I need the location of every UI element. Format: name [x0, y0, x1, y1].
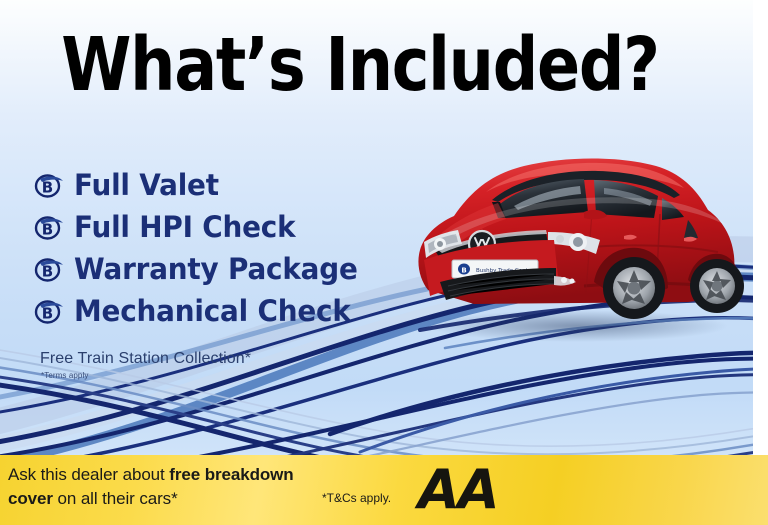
- b-logo-icon: B: [34, 215, 64, 241]
- advert-artwork-panel: What’s Included? B Full Valet B: [0, 0, 753, 525]
- included-features-list: B Full Valet B Full HPI Check: [34, 165, 370, 333]
- list-item: B Mechanical Check: [34, 291, 370, 332]
- feature-label: Warranty Package: [74, 255, 358, 284]
- aa-line1-plain: Ask this dealer about: [8, 465, 169, 484]
- aa-line1-bold: free breakdown: [169, 465, 293, 484]
- feature-label: Mechanical Check: [74, 297, 351, 326]
- collection-note: Free Train Station Collection*: [40, 350, 251, 368]
- feature-label: Full HPI Check: [74, 213, 295, 242]
- car-plate-text: Bushby Trade Centre: [476, 268, 534, 274]
- page-title: What’s Included?: [50, 28, 669, 102]
- terms-note: *Terms apply: [41, 371, 88, 380]
- list-item: B Warranty Package: [34, 249, 370, 290]
- partner-banner: Ask this dealer about free breakdown cov…: [0, 455, 768, 525]
- b-logo-icon: B: [34, 173, 64, 199]
- feature-label: Full Valet: [74, 171, 219, 200]
- aa-line2-bold: cover: [8, 489, 53, 508]
- tcs-apply-note: *T&Cs apply.: [322, 491, 391, 505]
- list-item: B Full HPI Check: [34, 207, 370, 248]
- car-image: B Bushby Trade Centre: [388, 140, 753, 350]
- b-logo-icon: B: [34, 299, 64, 325]
- aa-logo: AA: [418, 459, 498, 521]
- b-logo-icon: B: [34, 257, 64, 283]
- list-item: B Full Valet: [34, 165, 370, 206]
- svg-text:B: B: [461, 267, 466, 275]
- dealer-advert: What’s Included? B Full Valet B: [0, 0, 768, 525]
- aa-line2-plain: on all their cars*: [53, 489, 178, 508]
- aa-message-line-1: Ask this dealer about free breakdown: [8, 463, 408, 487]
